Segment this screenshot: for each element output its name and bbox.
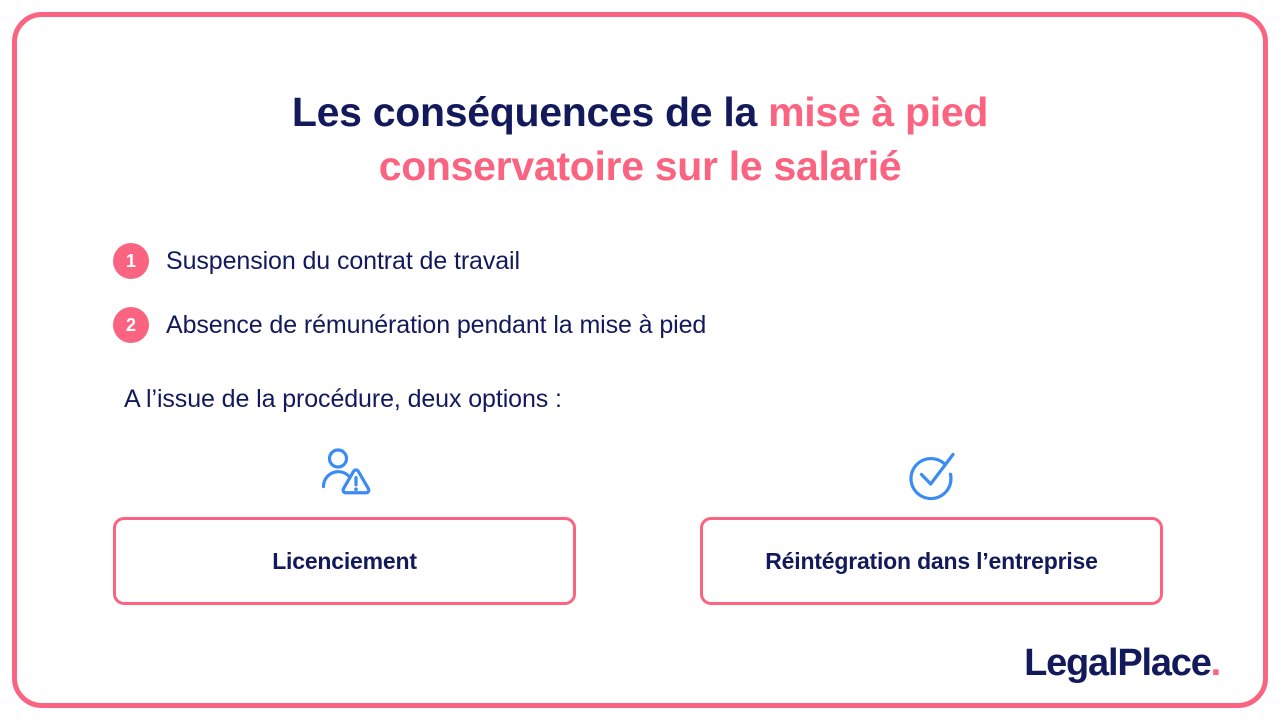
user-warning-icon [314,443,376,505]
options-row: Licenciement Réintégration dans l’entrep… [113,443,1163,605]
title-line2: conservatoire sur le salarié [90,139,1190,193]
option-licenciement: Licenciement [113,443,576,605]
list-number-badge: 1 [113,243,149,279]
check-circle-icon [901,443,963,505]
list-item-label: Absence de rémunération pendant la mise … [166,311,706,340]
option-label: Licenciement [272,548,417,575]
list-item: 1 Suspension du contrat de travail [113,238,1113,284]
list-item: 2 Absence de rémunération pendant la mis… [113,302,1113,348]
logo-wordmark: LegalPlace [1024,642,1211,684]
logo-dot: . [1211,642,1220,684]
option-reintegration: Réintégration dans l’entreprise [700,443,1163,605]
page-title: Les conséquences de la mise à pied conse… [90,85,1190,193]
title-line1-plain: Les conséquences de la [292,89,768,135]
list-number-badge: 2 [113,307,149,343]
option-box-reintegration[interactable]: Réintégration dans l’entreprise [700,517,1163,605]
legalplace-logo: LegalPlace. [1024,644,1220,682]
list-item-label: Suspension du contrat de travail [166,247,520,276]
infographic-canvas: Les conséquences de la mise à pied conse… [0,0,1280,720]
intro-text: A l’issue de la procédure, deux options … [124,385,562,414]
consequences-list: 1 Suspension du contrat de travail 2 Abs… [113,238,1113,366]
option-label: Réintégration dans l’entreprise [765,548,1098,575]
title-line1-accent: mise à pied [768,89,988,135]
option-box-licenciement[interactable]: Licenciement [113,517,576,605]
